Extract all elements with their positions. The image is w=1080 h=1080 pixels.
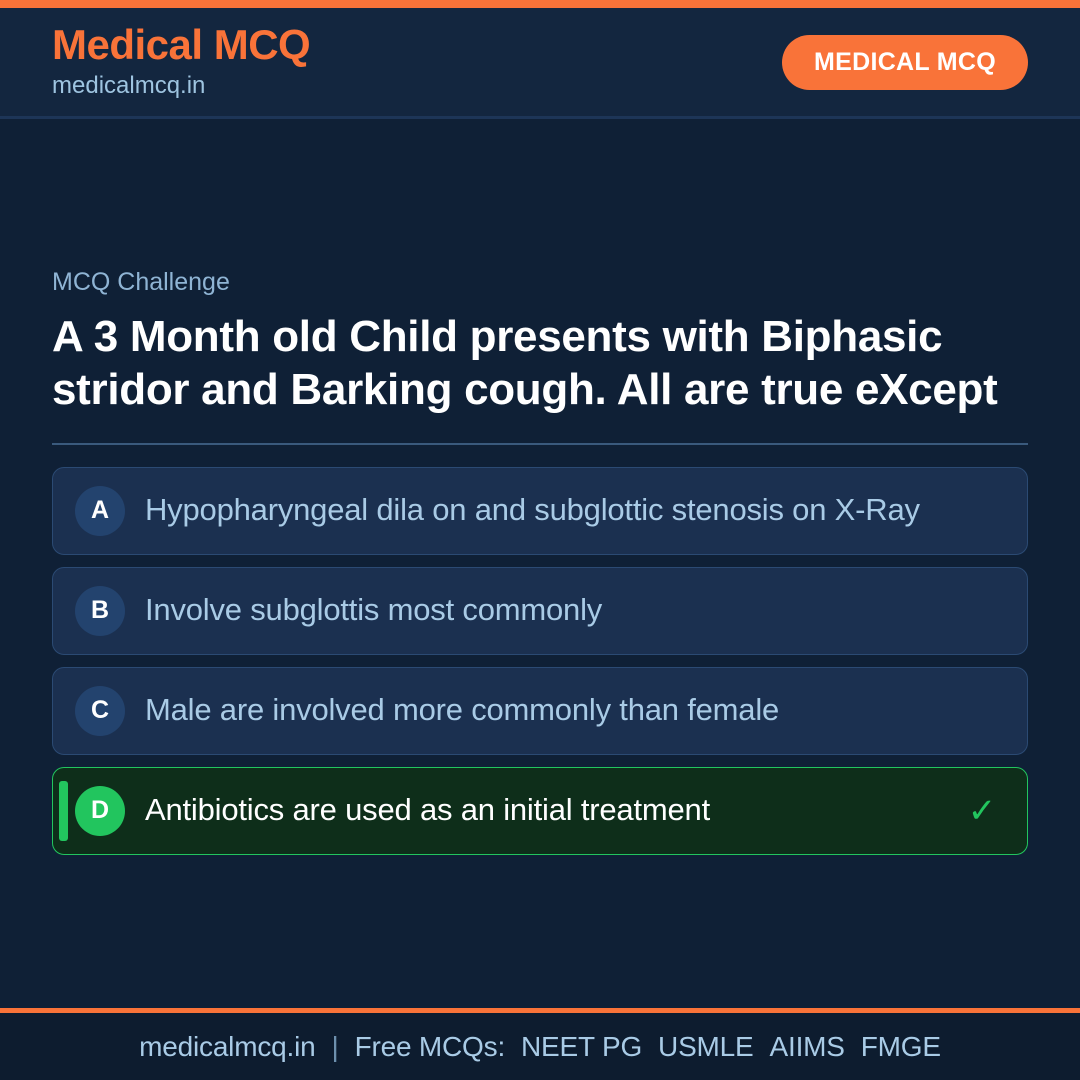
brand-block: Medical MCQ medicalmcq.in [52,23,310,101]
option-accent-bar [59,781,68,841]
option-letter-badge: B [75,586,125,636]
option-a[interactable]: A Hypopharyngeal dila on and subglottic … [52,467,1028,555]
option-letter-badge: D [75,786,125,836]
footer-separator: | [331,1031,338,1063]
header: Medical MCQ medicalmcq.in MEDICAL MCQ [0,8,1080,119]
option-text: Hypopharyngeal dila on and subglottic st… [145,494,961,527]
footer-site[interactable]: medicalmcq.in [139,1031,315,1063]
eyebrow-label: MCQ Challenge [52,267,1028,297]
footer-exams: NEET PG USMLE AIIMS FMGE [521,1031,941,1063]
footer: medicalmcq.in | Free MCQs: NEET PG USMLE… [0,1008,1080,1080]
check-icon: ✓ [961,794,1003,828]
option-d[interactable]: D Antibiotics are used as an initial tre… [52,767,1028,855]
footer-exam-usmle[interactable]: USMLE [658,1031,753,1063]
option-c[interactable]: C Male are involved more commonly than f… [52,667,1028,755]
footer-content: medicalmcq.in | Free MCQs: NEET PG USMLE… [139,1031,941,1063]
question-text: A 3 Month old Child presents with Biphas… [52,311,1028,417]
footer-exams-label: Free MCQs: [355,1031,505,1063]
main-content: MCQ Challenge A 3 Month old Child presen… [0,119,1080,1008]
brand-subtitle: medicalmcq.in [52,70,310,101]
mcq-card: Medical MCQ medicalmcq.in MEDICAL MCQ MC… [0,0,1080,1080]
brand-title: Medical MCQ [52,23,310,68]
footer-exam-aiims[interactable]: AIIMS [770,1031,845,1063]
options-list: A Hypopharyngeal dila on and subglottic … [52,467,1028,855]
footer-exam-fmge[interactable]: FMGE [861,1031,941,1063]
option-text: Involve subglottis most commonly [145,594,961,627]
option-text: Male are involved more commonly than fem… [145,694,961,727]
option-text: Antibiotics are used as an initial treat… [145,794,961,827]
top-accent-bar [0,0,1080,8]
footer-exam-neetpg[interactable]: NEET PG [521,1031,642,1063]
option-b[interactable]: B Involve subglottis most commonly [52,567,1028,655]
option-letter-badge: C [75,686,125,736]
question-divider [52,443,1028,445]
question-block: MCQ Challenge A 3 Month old Child presen… [52,267,1028,417]
option-letter-badge: A [75,486,125,536]
header-badge: MEDICAL MCQ [782,35,1028,90]
